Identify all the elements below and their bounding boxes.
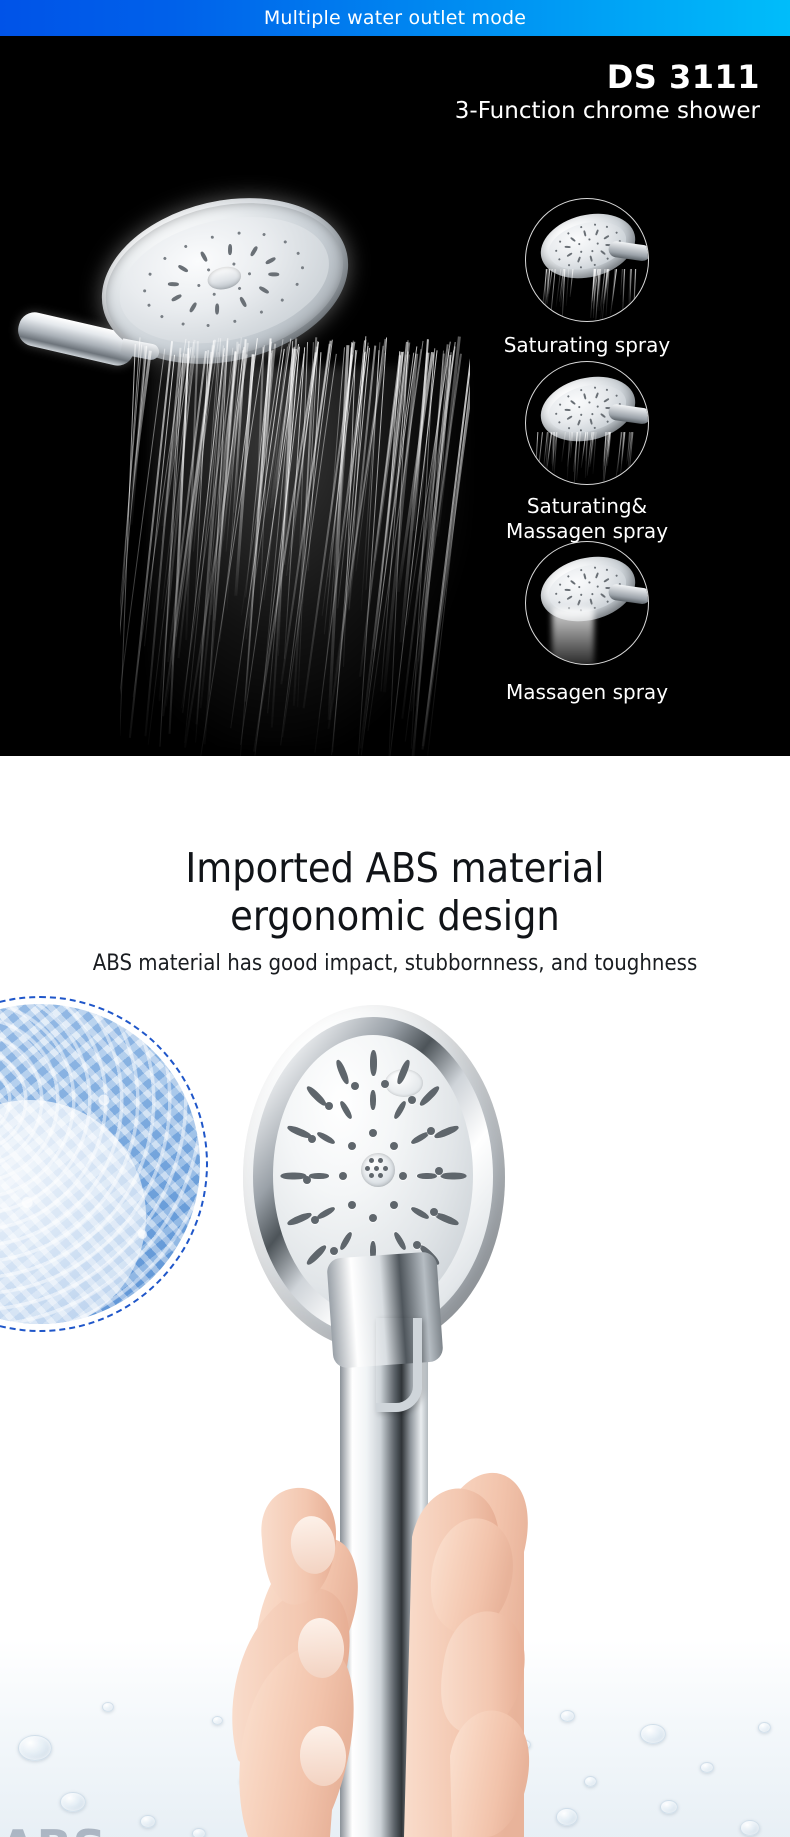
mini-spray-2	[536, 432, 640, 485]
hero-section: DS 3111 3-Function chrome shower S	[0, 36, 790, 756]
material-subheading: ABS material has good impact, stubbornne…	[0, 951, 790, 976]
mini-spray-1	[536, 269, 640, 322]
water-droplet-icon	[300, 1830, 312, 1837]
water-droplet-icon	[640, 1724, 666, 1744]
water-droplet-icon	[102, 1702, 114, 1712]
abs-pellets-image	[0, 1004, 200, 1324]
mode-label-1: Saturating spray	[437, 333, 737, 358]
water-droplet-icon	[60, 1792, 86, 1812]
abs-inner-overlay	[0, 1100, 146, 1324]
water-droplet-icon	[660, 1800, 678, 1814]
material-heading-line2: ergonomic design	[0, 892, 790, 940]
banner-title: Multiple water outlet mode	[264, 7, 526, 29]
mode-circle-3	[525, 541, 649, 665]
water-droplet-icon	[700, 1762, 714, 1773]
mode-label-2a: Saturating&	[437, 494, 737, 519]
water-droplet-icon	[520, 1740, 531, 1749]
product-model: DS 3111	[607, 58, 760, 96]
product-detail-page: Multiple water outlet mode DS 3111 3-Fun…	[0, 0, 790, 1837]
material-heading: Imported ABS material ergonomic design	[0, 844, 790, 940]
material-heading-line1: Imported ABS material	[0, 844, 790, 892]
water-spray	[120, 336, 470, 756]
water-droplet-icon	[212, 1716, 223, 1725]
water-droplet-icon	[18, 1735, 52, 1761]
mini-handle-2	[608, 403, 649, 425]
water-droplet-icon	[140, 1815, 156, 1828]
water-droplet-icon	[240, 1776, 253, 1786]
mode-label-3: Massagen spray	[437, 680, 737, 705]
mini-jet-3	[552, 608, 594, 665]
top-banner: Multiple water outlet mode	[0, 0, 790, 36]
water-droplet-icon	[556, 1808, 578, 1826]
water-droplet-icon	[758, 1722, 771, 1733]
product-subtitle: 3-Function chrome shower	[455, 98, 760, 124]
water-droplet-icon	[470, 1826, 483, 1837]
water-droplet-icon	[192, 1828, 206, 1837]
abs-material-badge	[0, 996, 208, 1332]
mode-circle-1	[525, 198, 649, 322]
mini-handle-1	[608, 240, 649, 262]
water-droplet-icon	[584, 1776, 597, 1787]
product-head-center-rose	[361, 1153, 395, 1187]
product-hook	[376, 1318, 422, 1412]
mini-handle-3	[608, 583, 649, 605]
water-droplet-icon	[560, 1710, 575, 1722]
mode-circle-2	[525, 361, 649, 485]
water-droplet-icon	[740, 1820, 760, 1836]
